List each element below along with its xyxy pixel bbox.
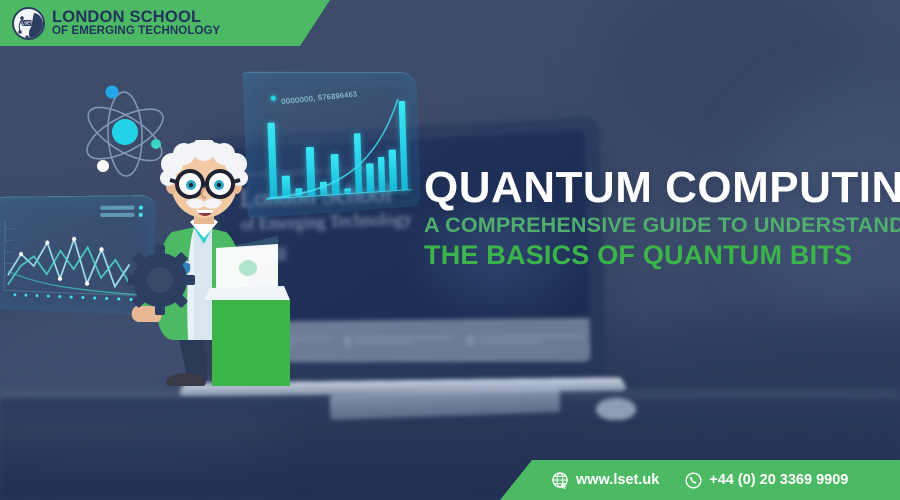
line-chart-plot — [0, 215, 145, 310]
page-subtitle-secondary: THE BASICS OF QUANTUM BITS — [424, 241, 884, 269]
brand-name: LONDON SCHOOL OF EMERGING TECHNOLOGY — [52, 9, 220, 38]
phone-label: +44 (0) 20 3369 9909 — [709, 472, 848, 488]
cartoon-scientist-character — [128, 140, 296, 386]
website-label: www.lset.uk — [576, 472, 659, 488]
page-title: QUANTUM COMPUTING — [424, 166, 884, 210]
lset-head-circuit-logo-icon[interactable]: LSET — [12, 7, 45, 40]
phone-contact[interactable]: +44 (0) 20 3369 9909 — [685, 472, 848, 489]
globe-cursor-icon — [552, 472, 569, 489]
website-contact[interactable]: www.lset.uk — [552, 472, 659, 489]
contact-footer-bar: www.lset.uk +44 (0) 20 3369 9909 — [500, 460, 900, 500]
mouse — [596, 398, 636, 420]
brand-name-line1: LONDON SCHOOL — [52, 9, 220, 26]
page-subtitle: A COMPREHENSIVE GUIDE TO UNDERSTANDING — [424, 214, 884, 237]
banner-root: The Next Generation Education London Sch… — [0, 0, 900, 500]
brand-name-line2: OF EMERGING TECHNOLOGY — [52, 26, 220, 38]
phone-circle-icon — [685, 472, 702, 489]
headline-block: QUANTUM COMPUTING A COMPREHENSIVE GUIDE … — [424, 166, 884, 269]
logo-badge-text: LSET — [22, 20, 33, 25]
brand-header-bar: LSET LONDON SCHOOL OF EMERGING TECHNOLOG… — [0, 0, 330, 46]
